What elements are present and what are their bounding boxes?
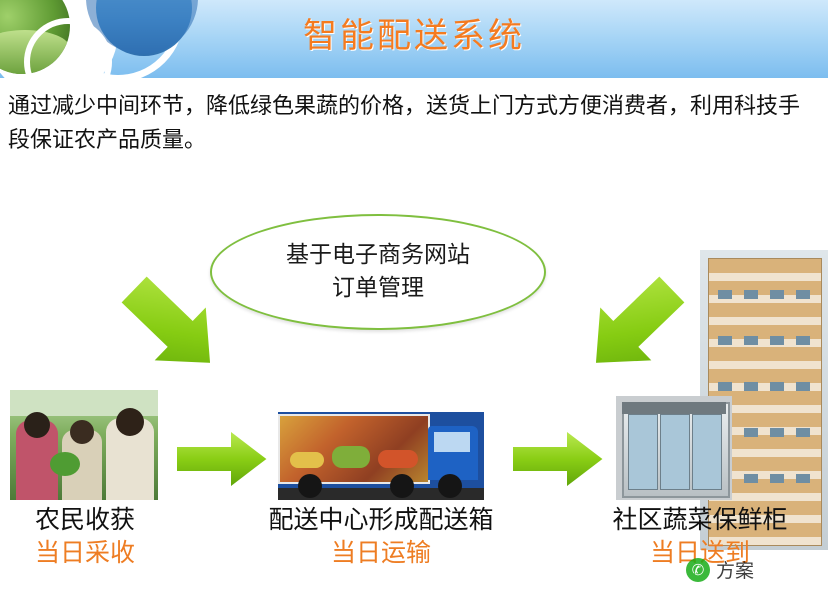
farmer-head — [70, 420, 94, 444]
farmer-head — [24, 412, 50, 438]
building-window — [744, 336, 758, 345]
stage-label-truck-title: 配送中心形成配送箱 — [236, 504, 526, 536]
stage-label-truck-sub: 当日运输 — [236, 536, 526, 570]
building-window — [796, 474, 810, 483]
building-window — [796, 290, 810, 299]
delivery-truck-photo — [278, 412, 484, 500]
building-window — [718, 336, 732, 345]
center-node-ellipse: 基于电子商务网站 订单管理 — [210, 214, 546, 330]
arrow-truck-to-fridge-icon — [510, 428, 606, 490]
fridge-door — [692, 414, 722, 490]
truck-cargo-box — [278, 414, 430, 484]
building-window — [796, 382, 810, 391]
page-title: 智能配送系统 — [0, 8, 828, 57]
produce-shape — [290, 452, 324, 468]
building-window — [770, 336, 784, 345]
stage-label-truck: 配送中心形成配送箱 当日运输 — [236, 504, 526, 570]
center-node-line2: 订单管理 — [332, 272, 424, 305]
building-window — [770, 428, 784, 437]
arrow-to-farm-icon — [108, 272, 238, 382]
produce-shape — [332, 446, 370, 468]
stage-label-farm: 农民收获 当日采收 — [0, 504, 170, 570]
building-window — [744, 382, 758, 391]
building-window — [744, 428, 758, 437]
farmers-harvest-photo — [10, 390, 158, 500]
farmer-head — [116, 408, 144, 436]
intro-paragraph: 通过减少中间环节，降低绿色果蔬的价格，送货上门方式方便消费者，利用科技手段保证农… — [8, 90, 820, 158]
header-band: 智能配送系统 — [0, 0, 828, 78]
produce-shape — [378, 450, 418, 468]
arrow-farm-to-truck-icon — [174, 428, 270, 490]
building-window — [796, 336, 810, 345]
watermark-text: 方案 — [716, 556, 754, 583]
truck-wheel — [298, 474, 322, 498]
building-window — [770, 290, 784, 299]
watermark: ✆ 方案 — [686, 556, 754, 583]
truck-window — [434, 432, 470, 452]
vegetable-shape — [50, 452, 80, 476]
building-window — [718, 382, 732, 391]
stage-label-farm-sub: 当日采收 — [0, 536, 170, 570]
building-window — [744, 474, 758, 483]
building-window — [770, 382, 784, 391]
community-fresh-cabinet-photo — [616, 396, 732, 500]
fridge-top-panel — [622, 402, 726, 414]
building-window — [796, 428, 810, 437]
stage-label-fridge-title: 社区蔬菜保鲜柜 — [572, 504, 828, 536]
fridge-door — [660, 414, 690, 490]
arrow-from-building-icon — [568, 272, 698, 382]
center-node-line1: 基于电子商务网站 — [286, 239, 470, 272]
building-window — [718, 290, 732, 299]
building-window — [770, 474, 784, 483]
truck-wheel — [438, 474, 462, 498]
stage-label-farm-title: 农民收获 — [0, 504, 170, 536]
building-window — [744, 290, 758, 299]
truck-wheel — [390, 474, 414, 498]
fridge-door — [628, 414, 658, 490]
wechat-icon: ✆ — [686, 558, 710, 582]
